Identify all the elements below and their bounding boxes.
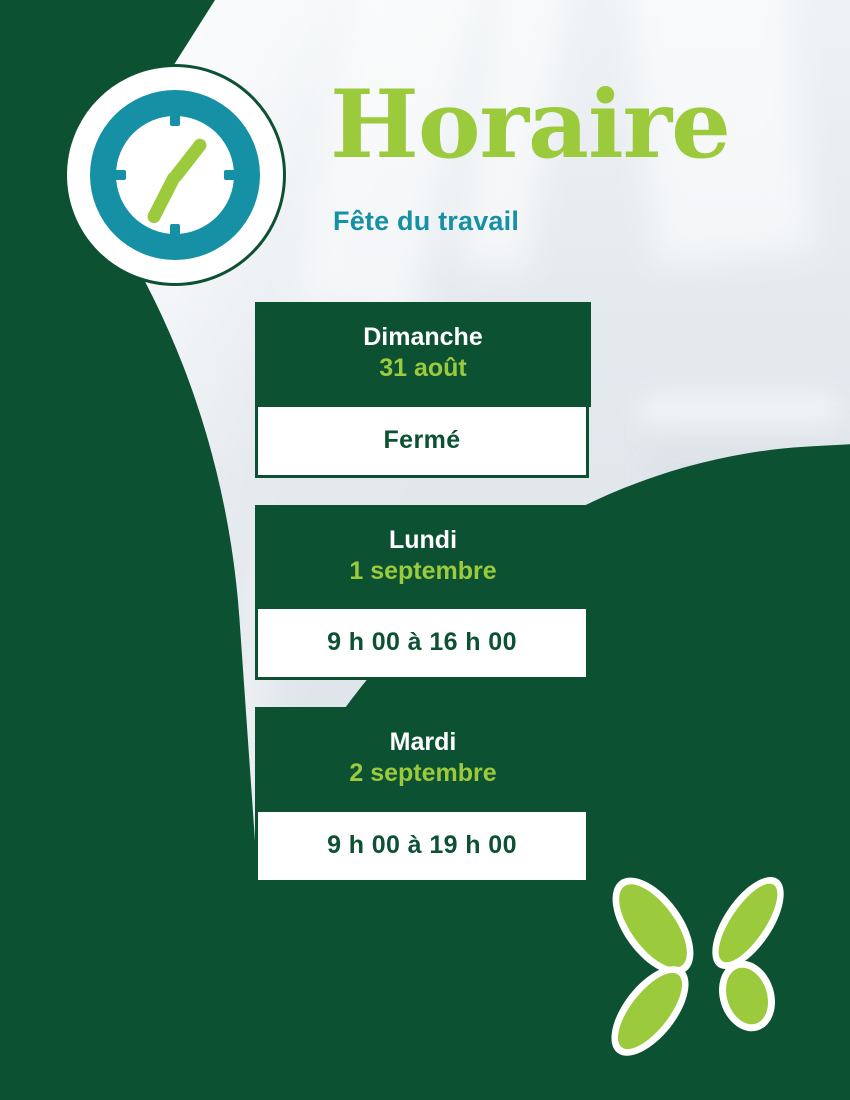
- clock-tick-6: [170, 224, 180, 242]
- schedule-card-header: Mardi 2 septembre: [255, 707, 591, 812]
- page-title: Horaire: [330, 78, 730, 172]
- schedule-poster: Horaire Fête du travail Dimanche 31 août…: [0, 0, 850, 1100]
- schedule-date-label: 31 août: [265, 353, 581, 384]
- schedule-card: Lundi 1 septembre 9 h 00 à 16 h 00: [255, 505, 591, 681]
- schedule-hours-label: 9 h 00 à 16 h 00: [268, 628, 576, 657]
- background-smudge: [648, 430, 844, 438]
- clock-tick-3: [224, 170, 242, 180]
- schedule-card: Mardi 2 septembre 9 h 00 à 19 h 00: [255, 707, 591, 883]
- schedule-date-label: 1 septembre: [265, 556, 581, 587]
- schedule-day-label: Lundi: [265, 525, 581, 556]
- schedule-card-body: 9 h 00 à 19 h 00: [255, 812, 589, 883]
- schedule-date-label: 2 septembre: [265, 758, 581, 789]
- butterfly-logo: [618, 860, 808, 1056]
- clock-tick-9: [108, 170, 126, 180]
- schedule-list: Dimanche 31 août Fermé Lundi 1 septembre…: [255, 302, 591, 910]
- schedule-card: Dimanche 31 août Fermé: [255, 302, 591, 478]
- schedule-card-header: Lundi 1 septembre: [255, 505, 591, 610]
- schedule-hours-label: 9 h 00 à 19 h 00: [268, 831, 576, 860]
- schedule-hours-label: Fermé: [268, 426, 576, 455]
- clock-tick-12: [170, 108, 180, 126]
- schedule-card-body: 9 h 00 à 16 h 00: [255, 609, 589, 680]
- schedule-day-label: Dimanche: [265, 322, 581, 353]
- schedule-card-header: Dimanche 31 août: [255, 302, 591, 407]
- schedule-card-body: Fermé: [255, 407, 589, 478]
- schedule-day-label: Mardi: [265, 727, 581, 758]
- page-subtitle: Fête du travail: [333, 206, 519, 237]
- clock-icon: [64, 64, 286, 286]
- background-smudge: [640, 395, 840, 431]
